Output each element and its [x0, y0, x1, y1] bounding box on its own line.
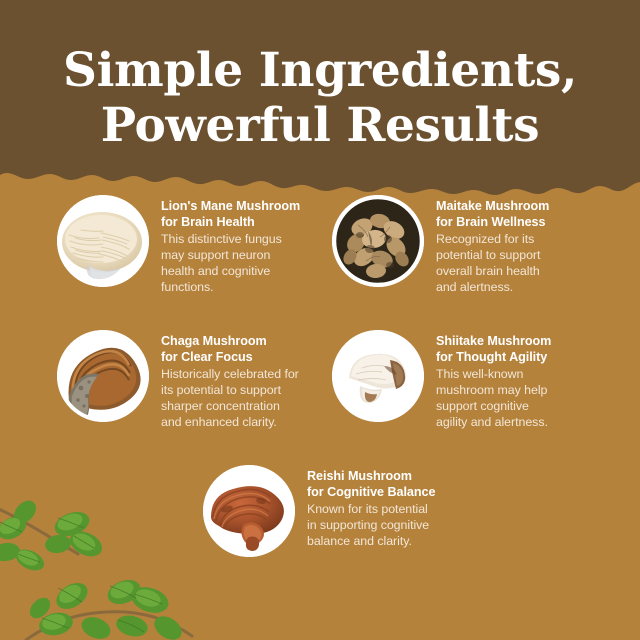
reishi-mushroom-photo	[203, 465, 295, 557]
ingredients-poster: Simple Ingredients, Powerful Results	[0, 0, 640, 640]
shiitake-body: This well-known mushroom may help suppor…	[436, 366, 551, 431]
chaga-heading: Chaga Mushroom for Clear Focus	[161, 333, 299, 365]
maitake-heading: Maitake Mushroom for Brain Wellness	[436, 198, 549, 230]
ingredient-item-lions-mane: Lion's Mane Mushroom for Brain Health Th…	[57, 195, 327, 295]
reishi-body: Known for its potential in supporting co…	[307, 501, 435, 549]
chaga-body: Historically celebrated for its potentia…	[161, 366, 299, 431]
lions-mane-heading: Lion's Mane Mushroom for Brain Health	[161, 198, 300, 230]
lions-mane-body: This distinctive fungus may support neur…	[161, 231, 300, 296]
chaga-mushroom-photo	[57, 330, 149, 422]
shiitake-mushroom-photo	[332, 330, 424, 422]
ingredient-item-reishi: Reishi Mushroom for Cognitive Balance Kn…	[203, 465, 479, 557]
header-band	[0, 0, 640, 215]
ingredient-item-chaga: Chaga Mushroom for Clear Focus Historica…	[57, 330, 329, 430]
lions-mane-mushroom-photo	[57, 195, 149, 287]
ingredient-item-maitake: Maitake Mushroom for Brain Wellness Reco…	[332, 195, 604, 295]
ingredient-item-shiitake: Shiitake Mushroom for Thought Agility Th…	[332, 330, 604, 430]
reishi-heading: Reishi Mushroom for Cognitive Balance	[307, 468, 435, 500]
lions-mane-copy: Lion's Mane Mushroom for Brain Health Th…	[161, 195, 300, 295]
maitake-body: Recognized for its potential to support …	[436, 231, 549, 296]
shiitake-heading: Shiitake Mushroom for Thought Agility	[436, 333, 551, 365]
maitake-copy: Maitake Mushroom for Brain Wellness Reco…	[436, 195, 549, 295]
chaga-copy: Chaga Mushroom for Clear Focus Historica…	[161, 330, 299, 430]
maitake-mushroom-photo	[332, 195, 424, 287]
reishi-copy: Reishi Mushroom for Cognitive Balance Kn…	[307, 465, 435, 549]
shiitake-copy: Shiitake Mushroom for Thought Agility Th…	[436, 330, 551, 430]
